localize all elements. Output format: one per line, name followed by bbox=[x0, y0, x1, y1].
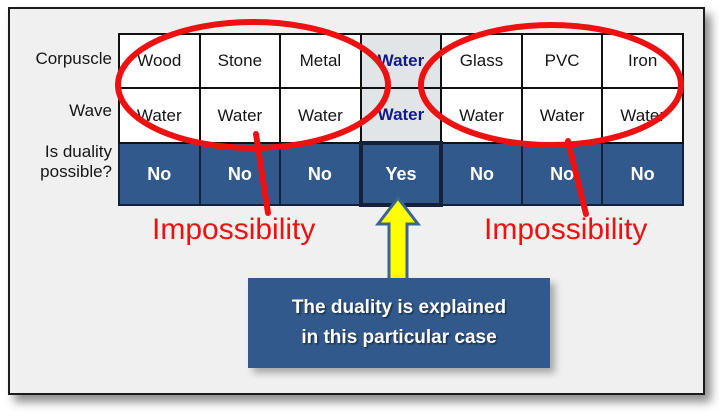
cell-corpuscle-6: Iron bbox=[602, 34, 683, 88]
callout-line-2: in this particular case bbox=[301, 323, 496, 353]
caption-impossibility-left: Impossibility bbox=[152, 213, 315, 247]
cell-duality-0: No bbox=[119, 143, 200, 205]
cell-duality-4: No bbox=[441, 143, 522, 205]
row-label-duality-line2: possible? bbox=[6, 162, 112, 182]
callout-box: The duality is explained in this particu… bbox=[248, 278, 550, 368]
row-label-duality-line1: Is duality bbox=[6, 142, 112, 162]
cell-corpuscle-1: Stone bbox=[200, 34, 281, 88]
callout-line-1: The duality is explained bbox=[292, 293, 506, 323]
cell-corpuscle-4: Glass bbox=[441, 34, 522, 88]
cell-duality-5: No bbox=[522, 143, 603, 205]
slide-stage: Corpuscle Wave Is duality possible? Wood… bbox=[0, 0, 719, 417]
cell-duality-1: No bbox=[200, 143, 281, 205]
table-row-corpuscle: Wood Stone Metal Water Glass PVC Iron bbox=[119, 34, 683, 88]
cell-corpuscle-2: Metal bbox=[280, 34, 361, 88]
cell-duality-2: No bbox=[280, 143, 361, 205]
cell-wave-4: Water bbox=[441, 88, 522, 143]
duality-table: Wood Stone Metal Water Glass PVC Iron Wa… bbox=[118, 33, 684, 207]
row-label-corpuscle: Corpuscle bbox=[6, 49, 112, 69]
row-label-is-duality-possible: Is duality possible? bbox=[6, 142, 112, 182]
cell-wave-0: Water bbox=[119, 88, 200, 143]
cell-wave-2: Water bbox=[280, 88, 361, 143]
cell-corpuscle-0: Wood bbox=[119, 34, 200, 88]
cell-corpuscle-5: PVC bbox=[522, 34, 603, 88]
cell-duality-6: No bbox=[602, 143, 683, 205]
cell-wave-3: Water bbox=[361, 88, 442, 143]
cell-wave-5: Water bbox=[522, 88, 603, 143]
cell-corpuscle-3: Water bbox=[361, 34, 442, 88]
row-label-wave-text: Wave bbox=[69, 101, 112, 120]
caption-impossibility-right: Impossibility bbox=[484, 213, 647, 247]
row-label-corpuscle-text: Corpuscle bbox=[35, 49, 112, 68]
cell-wave-6: Water bbox=[602, 88, 683, 143]
table-row-wave: Water Water Water Water Water Water Wate… bbox=[119, 88, 683, 143]
cell-wave-1: Water bbox=[200, 88, 281, 143]
table-row-duality: No No No Yes No No No bbox=[119, 143, 683, 205]
cell-duality-3-yes: Yes bbox=[361, 143, 442, 205]
row-label-wave: Wave bbox=[6, 101, 112, 121]
